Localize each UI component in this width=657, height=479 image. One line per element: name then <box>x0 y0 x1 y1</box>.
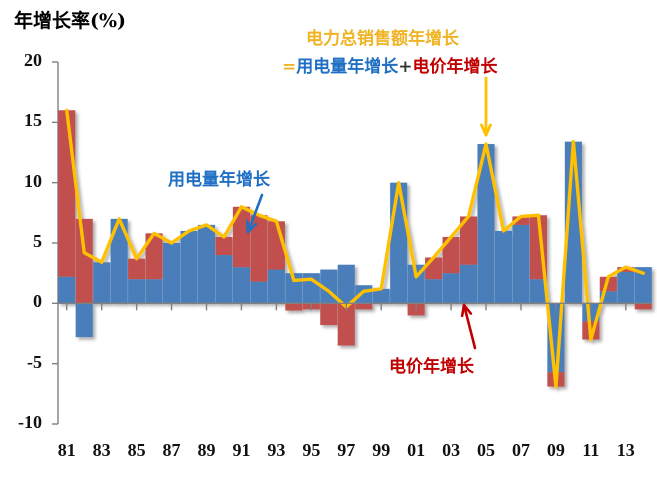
bar-consumption-87 <box>163 243 180 303</box>
bar-price-96 <box>320 303 337 325</box>
bar-price-85 <box>128 259 145 280</box>
bar-consumption-04 <box>460 265 477 304</box>
bar-price-81 <box>58 110 75 277</box>
bar-consumption-00 <box>390 183 407 304</box>
bar-consumption-98 <box>355 285 372 303</box>
bar-consumption-06 <box>495 231 512 303</box>
formula-consumption: 用电量年增长 <box>296 57 398 77</box>
bar-price-82 <box>76 219 93 303</box>
formula-price: 电价年增长 <box>413 57 498 77</box>
bar-consumption-82 <box>76 303 93 337</box>
formula-plus: + <box>398 57 412 77</box>
bar-consumption-02 <box>425 279 442 303</box>
formula-equals: = <box>282 57 296 77</box>
bar-consumption-92 <box>250 282 267 304</box>
bar-consumption-81 <box>58 277 75 304</box>
bar-consumption-90 <box>215 255 232 303</box>
bar-consumption-83 <box>93 262 110 303</box>
bar-consumption-89 <box>198 225 215 303</box>
annotation-formula: =用电量年增长+电价年增长 <box>282 52 498 77</box>
bar-consumption-85 <box>128 279 145 303</box>
bar-price-94 <box>285 303 302 310</box>
bar-price-02 <box>425 257 442 279</box>
bar-consumption-91 <box>233 267 250 303</box>
annotation-consumption-growth: 用电量年增长 <box>168 165 270 190</box>
bar-consumption-97 <box>338 265 355 304</box>
bar-consumption-07 <box>512 225 529 303</box>
chart-container: 年增长率(%) 20151050-5-108183858789919395979… <box>0 0 657 479</box>
bar-consumption-88 <box>180 231 197 303</box>
bar-consumption-03 <box>443 273 460 303</box>
bar-price-90 <box>215 237 232 255</box>
bar-consumption-93 <box>268 270 285 304</box>
bar-price-98 <box>355 303 372 309</box>
series-group <box>58 110 652 386</box>
annotation-total-growth: 电力总销售额年增长 <box>306 24 459 49</box>
bar-price-14 <box>635 303 652 309</box>
bar-consumption-13 <box>617 272 634 303</box>
annotation-price-growth: 电价年增长 <box>389 352 474 377</box>
bar-consumption-86 <box>146 279 163 303</box>
